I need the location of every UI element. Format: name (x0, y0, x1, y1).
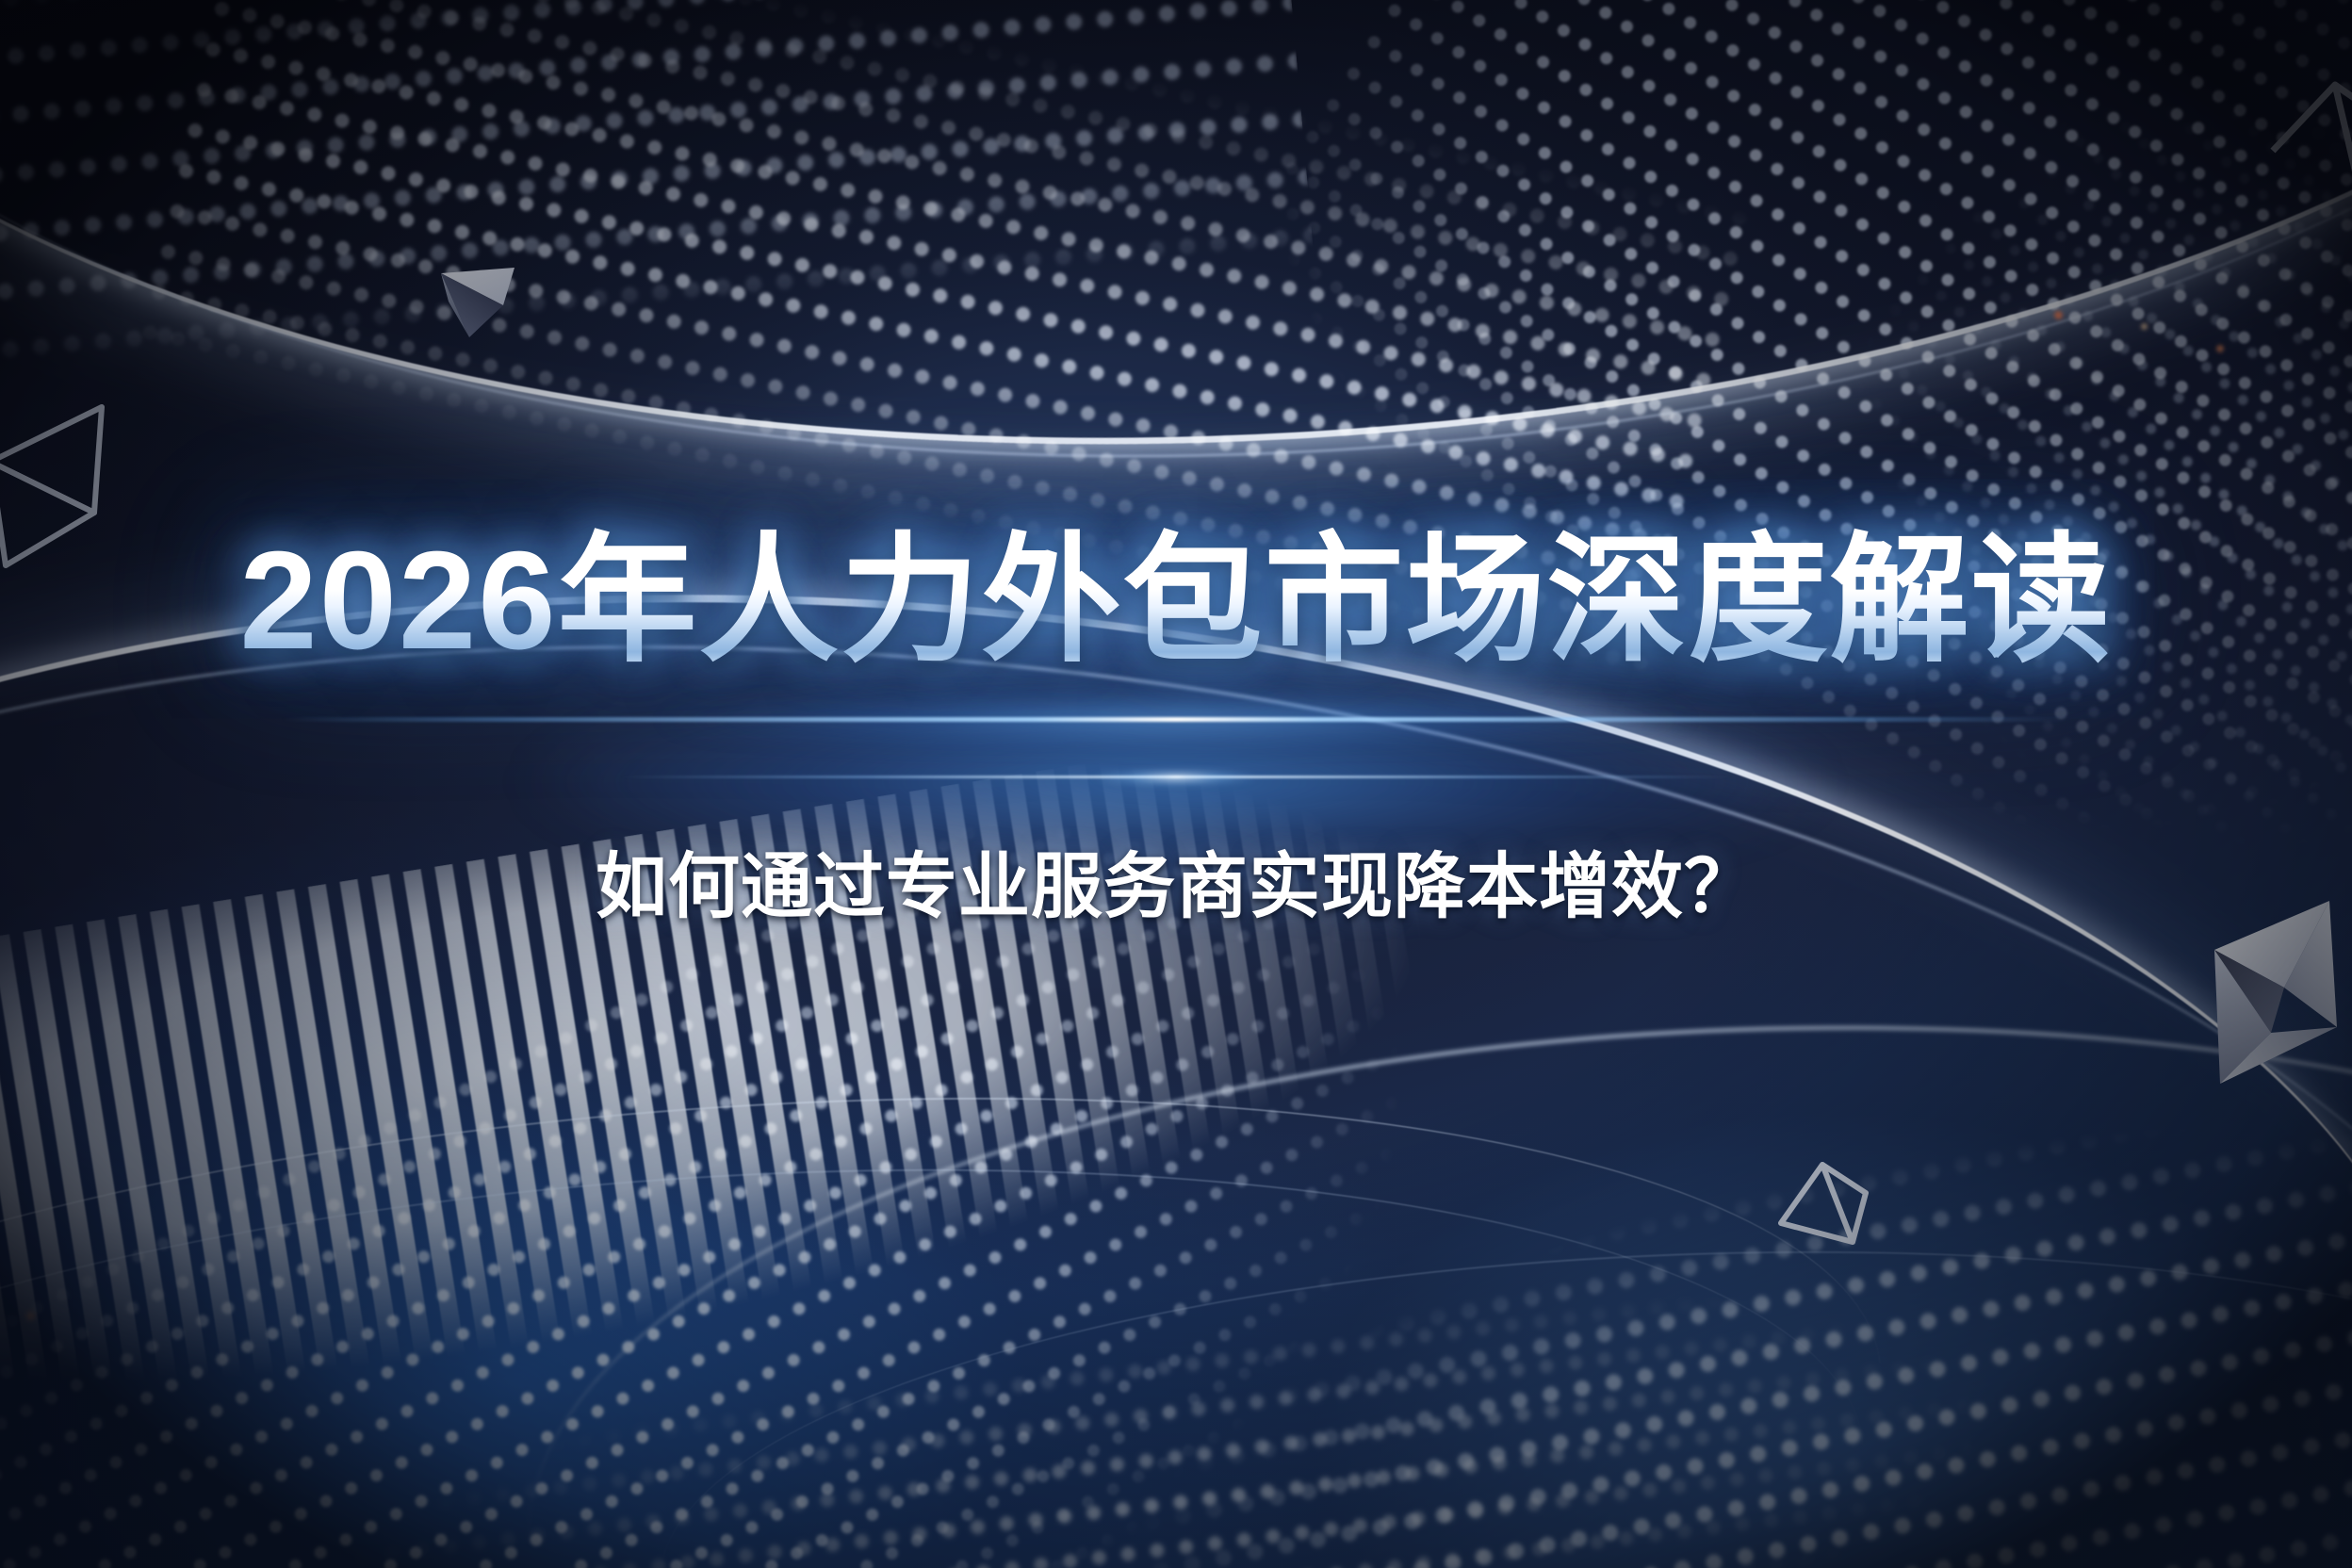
page-subtitle: 如何通过专业服务商实现降本增效？ (0, 828, 2352, 932)
divider-block (0, 681, 2352, 804)
tetrahedron-solid-icon (424, 247, 547, 369)
divider-hotspot (1086, 768, 1266, 787)
poster-canvas: 2026年人力外包市场深度解读 2026年人力外包市场深度解读 如何通过专业服务… (0, 0, 2352, 1568)
orange-speck-3 (2216, 345, 2224, 352)
hairline-arc-1 (0, 1006, 1911, 1568)
top-light-ribbon (0, 0, 2352, 531)
orange-speck-1 (2054, 311, 2063, 319)
dot-field-top-left (0, 0, 1315, 391)
top-wave-glow (0, 0, 2352, 583)
hairline-arc-3 (650, 1217, 2352, 1568)
diamond-wireframe-icon (2265, 60, 2352, 230)
top-light-ribbon-secondary (0, 0, 2352, 521)
hairline-arc-2 (0, 1097, 1887, 1568)
page-title: 2026年人力外包市场深度解读 (239, 528, 2112, 676)
dot-field-bottom-band (340, 1240, 2165, 1568)
tetrahedron-wireframe-icon (1741, 1136, 1920, 1278)
poster-text-block: 2026年人力外包市场深度解读 2026年人力外包市场深度解读 如何通过专业服务… (0, 528, 2352, 932)
warm-speck-2 (2141, 323, 2148, 330)
divider-line-primary (281, 717, 2071, 722)
warm-speck-4 (26, 1312, 35, 1320)
mid-light-ribbon (512, 985, 2352, 1568)
dot-field-bottom-right (1070, 1021, 2352, 1568)
